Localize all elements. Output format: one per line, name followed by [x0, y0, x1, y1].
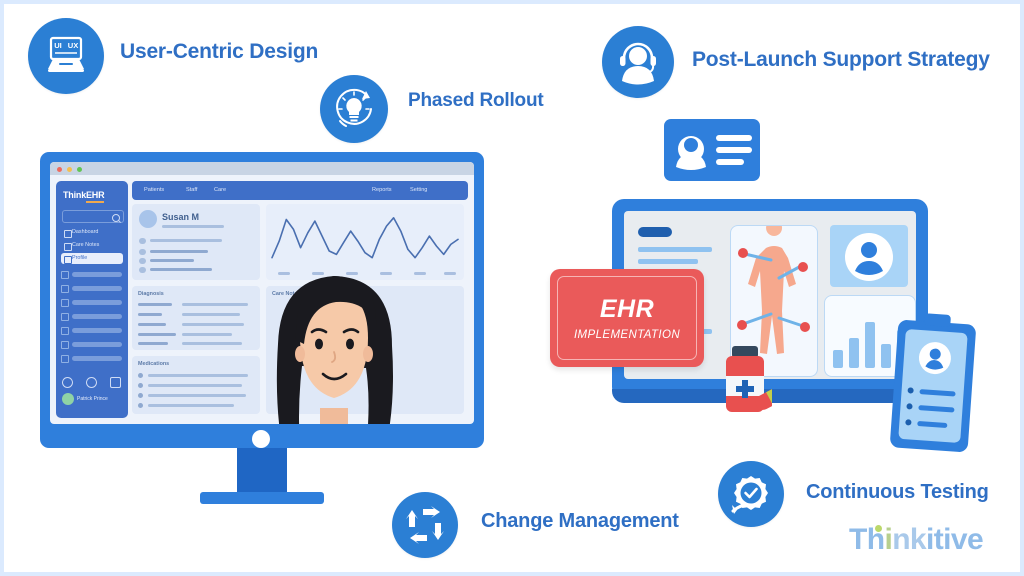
tablet-header-pill — [638, 227, 672, 237]
sidebar-item-label: Profile — [72, 255, 87, 261]
tab-care[interactable]: Care — [214, 187, 226, 193]
medication-bottle-icon — [718, 346, 772, 414]
id-avatar-icon — [917, 340, 953, 376]
location-icon — [139, 267, 146, 273]
sidebar-user-name: Patrick Prince — [77, 396, 108, 402]
message-line — [716, 147, 752, 153]
monitor-power-button[interactable] — [252, 430, 270, 448]
tab-reports[interactable]: Reports — [372, 187, 392, 193]
tab-patients[interactable]: Patients — [144, 187, 164, 193]
help-icon[interactable] — [86, 377, 97, 388]
checkbox-icon[interactable] — [138, 383, 143, 388]
mail-icon — [139, 238, 146, 244]
feature-icon-post-launch-support[interactable] — [602, 26, 674, 98]
diagnosis-label — [138, 303, 172, 306]
menu-placeholder-row[interactable] — [72, 314, 122, 319]
diagnosis-title: Diagnosis — [138, 291, 164, 297]
monitor-screen: ThinkEHR Dashboard Care Notes — [50, 162, 474, 424]
menu-placeholder-row[interactable] — [72, 342, 122, 347]
headset-support-icon — [613, 37, 663, 87]
tablet-line — [638, 247, 712, 252]
message-line — [716, 159, 744, 165]
feature-label-continuous-testing: Continuous Testing — [806, 481, 989, 504]
ehr-implementation-card: EHR IMPLEMENTATION — [550, 269, 704, 367]
infographic-canvas: ThinkEHR Dashboard Care Notes — [0, 0, 1024, 576]
logo-wordmark: Thinkitive — [849, 523, 983, 556]
feature-icon-change-management[interactable] — [392, 492, 458, 558]
diagnosis-label — [138, 333, 176, 336]
id-card-face — [898, 329, 968, 443]
logo-dot-icon — [875, 525, 882, 532]
monitor-bezel: ThinkEHR Dashboard Care Notes — [40, 152, 484, 448]
lightbulb-refresh-icon — [330, 85, 378, 133]
feature-label-post-launch-support: Post-Launch Support Strategy — [692, 48, 990, 72]
menu-placeholder-icon — [61, 341, 69, 349]
close-dot-icon[interactable] — [57, 167, 62, 172]
ui-ux-laptop-icon: UI UX — [40, 30, 92, 82]
person-avatar-icon — [838, 229, 900, 285]
ui-label: UI — [54, 41, 62, 50]
ehr-sidebar: ThinkEHR Dashboard Care Notes — [56, 181, 128, 418]
menu-placeholder-icon — [61, 271, 69, 279]
ehr-top-navbar: Patients Staff Care Reports Setting — [132, 181, 468, 200]
id-card-tab — [924, 313, 951, 327]
chart-bar — [833, 350, 843, 368]
checkbox-icon[interactable] — [138, 373, 143, 378]
search-icon — [112, 214, 120, 222]
sidebar-item-label: Dashboard — [72, 229, 98, 235]
menu-placeholder-row[interactable] — [72, 356, 122, 361]
menu-placeholder-row[interactable] — [72, 286, 122, 291]
logo-part-3: nk — [892, 523, 926, 556]
menu-placeholder-icon — [61, 355, 69, 363]
feature-icon-user-centric-design[interactable]: UI UX — [28, 18, 104, 94]
diagnosis-label — [138, 342, 168, 345]
chart-bar — [849, 338, 859, 368]
ehr-logo: ThinkEHR — [63, 190, 104, 200]
ehr-card-subtitle: IMPLEMENTATION — [550, 329, 704, 341]
monitor-neck — [237, 448, 287, 498]
search-input[interactable] — [62, 210, 124, 223]
feature-icon-continuous-testing[interactable] — [718, 461, 784, 527]
patient-subtitle-row — [162, 225, 224, 228]
ehr-implementation-illustration: EHR IMPLEMENTATION — [524, 114, 1014, 494]
menu-placeholder-row[interactable] — [72, 328, 122, 333]
patient-id-card — [890, 319, 977, 452]
notes-icon — [64, 243, 72, 251]
diagnosis-label — [138, 313, 162, 316]
list-bullet — [906, 403, 912, 409]
patient-field-row — [150, 268, 212, 271]
checkbox-icon[interactable] — [138, 393, 143, 398]
feature-label-change-management: Change Management — [481, 510, 679, 533]
patient-message-card — [664, 119, 760, 181]
monitor-base — [200, 492, 324, 504]
id-card-line — [918, 405, 954, 412]
menu-placeholder-row[interactable] — [72, 300, 122, 305]
menu-placeholder-icon — [61, 327, 69, 335]
feature-label-user-centric-design: User-Centric Design — [120, 40, 318, 64]
doctor-illustration — [216, 258, 446, 424]
maximize-dot-icon[interactable] — [77, 167, 82, 172]
patient-field-row — [150, 250, 208, 253]
feature-label-phased-rollout: Phased Rollout — [408, 90, 544, 112]
sidebar-footer-icons — [62, 377, 122, 387]
list-bullet — [907, 387, 913, 393]
ehr-card-title: EHR — [550, 295, 704, 324]
phone-icon — [139, 258, 146, 264]
avatar — [62, 393, 74, 405]
person-icon — [64, 256, 72, 264]
sidebar-item-care-notes[interactable]: Care Notes — [61, 240, 123, 251]
tablet-line — [638, 259, 698, 264]
patient-field-row — [150, 259, 194, 262]
chart-bar — [881, 344, 891, 368]
logout-icon[interactable] — [110, 377, 121, 388]
calendar-icon — [139, 249, 146, 255]
menu-placeholder-icon — [61, 285, 69, 293]
list-bullet — [905, 419, 911, 425]
id-card-line — [919, 389, 955, 396]
sidebar-item-dashboard[interactable]: Dashboard — [61, 227, 123, 238]
dashboard-icon — [64, 230, 72, 238]
minimize-dot-icon[interactable] — [67, 167, 72, 172]
logo-part-4: itive — [926, 523, 983, 556]
checkbox-icon[interactable] — [138, 403, 143, 408]
tab-setting[interactable]: Setting — [410, 187, 427, 193]
ux-label: UX — [68, 41, 79, 50]
settings-gear-icon[interactable] — [62, 377, 73, 388]
desktop-monitor-illustration: ThinkEHR Dashboard Care Notes — [40, 152, 484, 472]
patient-email-row — [150, 239, 222, 242]
sidebar-item-profile[interactable]: Profile — [61, 253, 123, 264]
patient-name: Susan M — [162, 212, 199, 222]
tab-staff[interactable]: Staff — [186, 187, 197, 193]
sidebar-item-label: Care Notes — [72, 242, 99, 248]
feature-icon-phased-rollout[interactable] — [320, 75, 388, 143]
id-card-line — [917, 421, 947, 428]
sidebar-user[interactable]: Patrick Prince — [62, 393, 108, 405]
thinkitive-logo: Thinkitive — [849, 523, 1004, 563]
menu-placeholder-icon — [61, 313, 69, 321]
recycle-arrows-icon — [403, 503, 447, 547]
patient-avatar — [139, 210, 157, 228]
diagnosis-label — [138, 323, 166, 326]
window-titlebar — [50, 162, 474, 175]
medications-title: Medications — [138, 361, 169, 367]
message-line — [716, 135, 752, 141]
chart-bar — [865, 322, 875, 368]
hand-quality-badge-icon — [728, 471, 774, 517]
menu-placeholder-row[interactable] — [72, 272, 122, 277]
menu-placeholder-icon — [61, 299, 69, 307]
